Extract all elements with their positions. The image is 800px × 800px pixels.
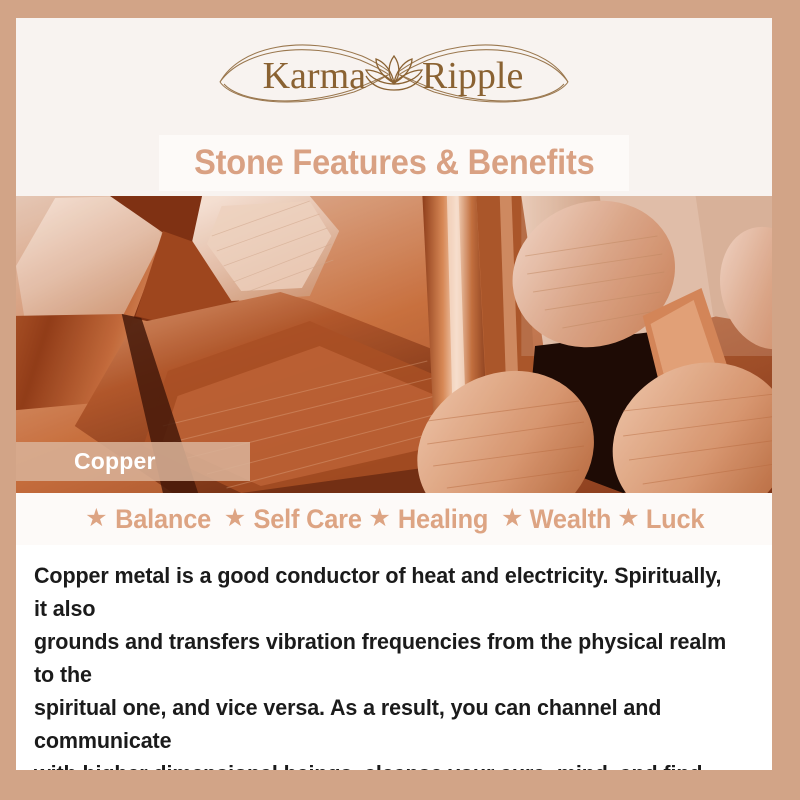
page-inner: Karma Ripple Stone Features & Benefits — [16, 18, 772, 770]
brand-logo: Karma Ripple — [194, 26, 594, 114]
benefit-item-healing: ★ Healing — [365, 504, 491, 535]
benefit-item-self-care: ★ Self Care — [221, 504, 366, 535]
lotus-icon — [366, 56, 422, 90]
benefits-row: ★ Balance ★ Self Care ★ Healing ★ Wealth — [16, 493, 772, 545]
benefit-label: Luck — [646, 504, 704, 535]
benefit-label: Self Care — [254, 504, 362, 535]
page-title: Stone Features & Benefits — [194, 143, 595, 183]
description-panel: Copper metal is a good conductor of heat… — [16, 545, 772, 770]
title-box: Stone Features & Benefits — [159, 135, 629, 191]
brand-name-right: Ripple — [422, 55, 523, 97]
benefit-label: Balance — [115, 504, 211, 535]
star-icon: ★ — [368, 506, 390, 531]
star-icon: ★ — [617, 506, 639, 531]
photo-caption-banner: Copper — [16, 442, 250, 481]
benefit-item-luck: ★ Luck — [614, 504, 706, 535]
star-icon: ★ — [224, 506, 246, 531]
photo-caption: Copper — [74, 448, 156, 475]
benefit-label: Wealth — [530, 504, 612, 535]
star-icon: ★ — [85, 506, 107, 531]
description-text: Copper metal is a good conductor of heat… — [34, 559, 731, 770]
infographic-card: Karma Ripple Stone Features & Benefits — [0, 0, 800, 800]
brand-name-left: Karma — [263, 55, 367, 97]
benefit-item-balance: ★ Balance — [82, 504, 214, 535]
star-icon: ★ — [501, 506, 523, 531]
benefit-item-wealth: ★ Wealth — [498, 504, 614, 535]
copper-bars-photo: Copper — [16, 196, 772, 493]
benefit-label: Healing — [398, 504, 488, 535]
brand-header: Karma Ripple — [16, 18, 772, 130]
